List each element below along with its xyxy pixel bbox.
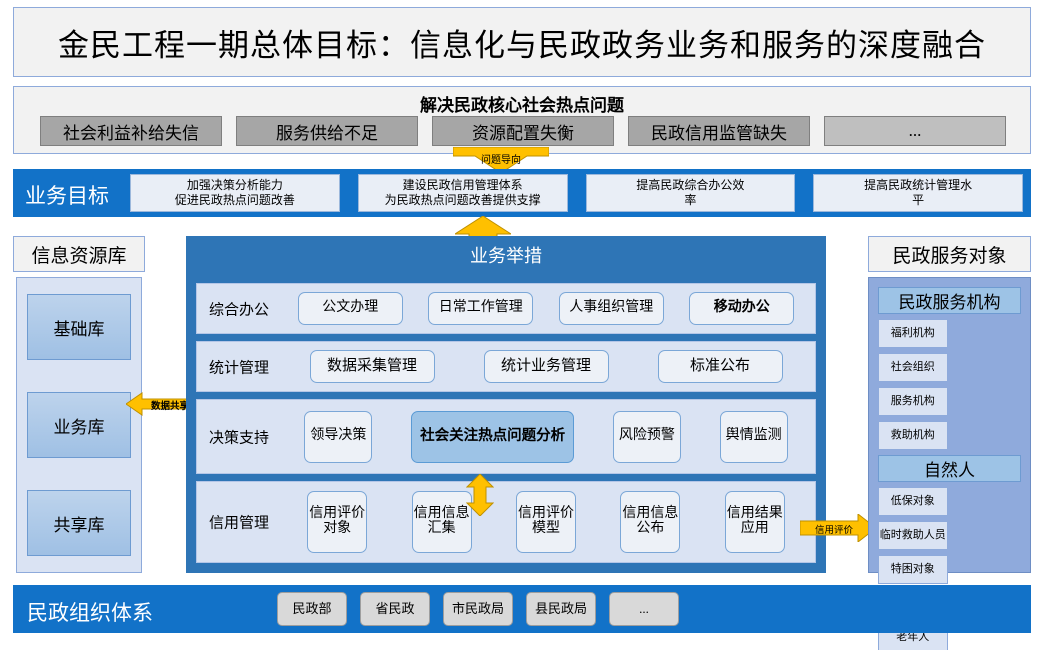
business-measures-title: 业务举措 bbox=[186, 236, 826, 274]
service-object-item[interactable]: 救助机构 bbox=[878, 421, 948, 450]
service-group-items-institutions: 福利机构 社会组织 服务机构 救助机构 bbox=[878, 319, 1021, 450]
org-item[interactable]: 市民政局 bbox=[443, 592, 513, 626]
goal-line2: 促进民政热点问题改善 bbox=[175, 193, 295, 208]
business-measures-panel: 业务举措 综合办公 公文办理 日常工作管理 人事组织管理 移动办公 统计管理 数… bbox=[186, 236, 826, 573]
service-objects-title: 民政服务对象 bbox=[868, 236, 1031, 272]
arrow-credit-evaluation: 信用评价 bbox=[800, 514, 876, 542]
measure-item[interactable]: 移动办公 bbox=[689, 292, 794, 325]
org-item[interactable]: 县民政局 bbox=[526, 592, 596, 626]
service-objects-panel: 民政服务机构 福利机构 社会组织 服务机构 救助机构 自然人 低保对象 临时救助… bbox=[868, 277, 1031, 573]
business-goal-item[interactable]: 提高民政综合办公效 率 bbox=[586, 174, 796, 212]
measure-item[interactable]: 舆情监测 bbox=[720, 411, 788, 463]
measure-row-label: 决策支持 bbox=[209, 426, 269, 447]
arrow-decision-credit bbox=[466, 474, 494, 516]
service-object-item[interactable]: 特困对象 bbox=[878, 555, 948, 584]
measure-row-label: 信用管理 bbox=[209, 512, 269, 533]
service-object-item[interactable]: 服务机构 bbox=[878, 387, 948, 416]
goal-line2: 率 bbox=[684, 193, 696, 208]
measure-row-statistics: 统计管理 数据采集管理 统计业务管理 标准公布 bbox=[196, 341, 816, 392]
org-item[interactable]: 省民政 bbox=[360, 592, 430, 626]
goal-line1: 建设民政信用管理体系 bbox=[403, 178, 523, 193]
org-item[interactable]: 民政部 bbox=[277, 592, 347, 626]
measure-item[interactable]: 信用信息公布 bbox=[620, 491, 680, 553]
measure-item[interactable]: 日常工作管理 bbox=[428, 292, 533, 325]
goal-line1: 提高民政综合办公效 bbox=[636, 178, 744, 193]
arrow-problem-label: 问题导向 bbox=[453, 151, 549, 166]
org-system-label: 民政组织体系 bbox=[27, 597, 153, 627]
measure-row-label: 统计管理 bbox=[209, 356, 269, 377]
hot-issue-item[interactable]: 服务供给不足 bbox=[236, 116, 418, 146]
measure-item[interactable]: 信用评价模型 bbox=[516, 491, 576, 553]
measure-row-items: 公文办理 日常工作管理 人事组织管理 移动办公 bbox=[285, 284, 807, 333]
measure-row-label: 综合办公 bbox=[209, 298, 269, 319]
business-goal-item[interactable]: 提高民政统计管理水 平 bbox=[813, 174, 1023, 212]
hot-issues-list: 社会利益补给失信 服务供给不足 资源配置失衡 民政信用监管缺失 ... bbox=[40, 116, 1006, 146]
business-goal-item[interactable]: 建设民政信用管理体系 为民政热点问题改善提供支撑 bbox=[358, 174, 568, 212]
hot-issue-item[interactable]: 社会利益补给失信 bbox=[40, 116, 222, 146]
measure-row-items: 信用评价对象 信用信息汇集 信用评价模型 信用信息公布 信用结果应用 bbox=[285, 482, 807, 562]
hot-issues-panel: 解决民政核心社会热点问题 社会利益补给失信 服务供给不足 资源配置失衡 民政信用… bbox=[13, 86, 1031, 154]
goal-line1: 加强决策分析能力 bbox=[187, 178, 283, 193]
diagram-root: 金民工程一期总体目标：信息化与民政政务业务和服务的深度融合 解决民政核心社会热点… bbox=[0, 0, 1044, 650]
resource-library-panel: 基础库 业务库 共享库 bbox=[16, 277, 142, 573]
business-goal-item[interactable]: 加强决策分析能力 促进民政热点问题改善 bbox=[130, 174, 340, 212]
measure-row-office: 综合办公 公文办理 日常工作管理 人事组织管理 移动办公 bbox=[196, 283, 816, 334]
measure-row-decision: 决策支持 领导决策 社会关注热点问题分析 风险预警 舆情监测 bbox=[196, 399, 816, 474]
resource-library-item[interactable]: 业务库 bbox=[27, 392, 131, 458]
measure-item[interactable]: 标准公布 bbox=[658, 350, 783, 383]
service-object-item[interactable]: 临时救助人员 bbox=[878, 521, 948, 550]
business-goals-list: 加强决策分析能力 促进民政热点问题改善 建设民政信用管理体系 为民政热点问题改善… bbox=[130, 174, 1023, 212]
resource-library-item[interactable]: 共享库 bbox=[27, 490, 131, 556]
service-object-item[interactable]: 低保对象 bbox=[878, 487, 948, 516]
hot-issue-item-more[interactable]: ... bbox=[824, 116, 1006, 146]
arrow-credit-label: 信用评价 bbox=[800, 522, 868, 536]
measure-row-credit: 信用管理 信用评价对象 信用信息汇集 信用评价模型 信用信息公布 信用结果应用 bbox=[196, 481, 816, 563]
measure-item[interactable]: 信用评价对象 bbox=[307, 491, 367, 553]
measure-item[interactable]: 领导决策 bbox=[304, 411, 372, 463]
measure-row-items: 数据采集管理 统计业务管理 标准公布 bbox=[285, 342, 807, 391]
measure-item[interactable]: 公文办理 bbox=[298, 292, 403, 325]
service-group-head-institutions: 民政服务机构 bbox=[878, 287, 1021, 314]
hot-issues-heading: 解决民政核心社会热点问题 bbox=[14, 91, 1030, 116]
page-title: 金民工程一期总体目标：信息化与民政政务业务和服务的深度融合 bbox=[13, 7, 1031, 77]
goal-line2: 平 bbox=[912, 193, 924, 208]
measure-item[interactable]: 信用信息汇集 bbox=[412, 491, 472, 553]
business-goals-bar: 业务目标 加强决策分析能力 促进民政热点问题改善 建设民政信用管理体系 为民政热… bbox=[13, 169, 1031, 217]
service-group-head-persons: 自然人 bbox=[878, 455, 1021, 482]
measure-item[interactable]: 数据采集管理 bbox=[310, 350, 435, 383]
measure-item[interactable]: 统计业务管理 bbox=[484, 350, 609, 383]
goal-line2: 为民政热点问题改善提供支撑 bbox=[385, 193, 541, 208]
hot-issue-item[interactable]: 资源配置失衡 bbox=[432, 116, 614, 146]
goal-line1: 提高民政统计管理水 bbox=[864, 178, 972, 193]
hot-issue-item[interactable]: 民政信用监管缺失 bbox=[628, 116, 810, 146]
measure-row-items: 领导决策 社会关注热点问题分析 风险预警 舆情监测 bbox=[285, 400, 807, 473]
measure-item[interactable]: 人事组织管理 bbox=[559, 292, 664, 325]
resource-library-title: 信息资源库 bbox=[13, 236, 145, 272]
resource-library-item[interactable]: 基础库 bbox=[27, 294, 131, 360]
measure-item-highlighted[interactable]: 社会关注热点问题分析 bbox=[411, 411, 574, 463]
org-item-more[interactable]: ... bbox=[609, 592, 679, 626]
business-goals-label: 业务目标 bbox=[25, 180, 109, 210]
service-object-item[interactable]: 社会组织 bbox=[878, 353, 948, 382]
org-system-list: 民政部 省民政 市民政局 县民政局 ... bbox=[277, 592, 679, 626]
service-object-item[interactable]: 福利机构 bbox=[878, 319, 948, 348]
org-system-bar: 民政组织体系 民政部 省民政 市民政局 县民政局 ... bbox=[13, 585, 1031, 633]
double-vertical-arrow-icon bbox=[466, 474, 494, 516]
measure-item[interactable]: 信用结果应用 bbox=[725, 491, 785, 553]
measure-item[interactable]: 风险预警 bbox=[613, 411, 681, 463]
